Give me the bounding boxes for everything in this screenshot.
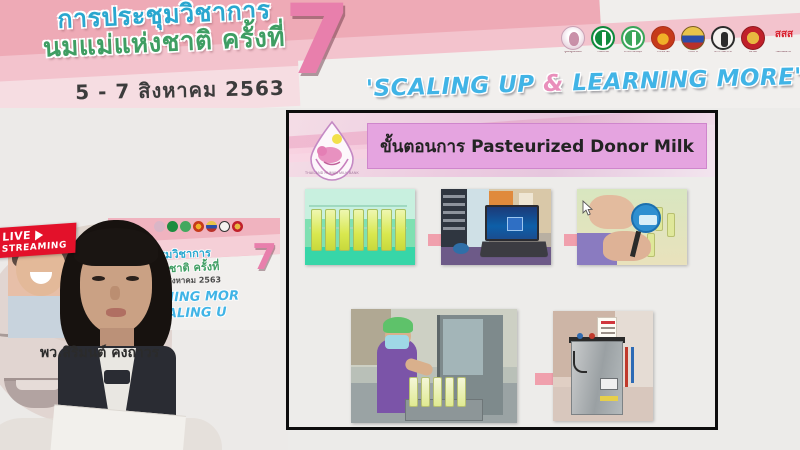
poster-logo-6-icon (232, 221, 243, 232)
sponsor-logo-4: กระทรวง (680, 26, 706, 58)
pasteurizer-knob-red (589, 333, 595, 339)
red-seal-logo-icon (741, 26, 765, 50)
pasteurizer-hose-red (625, 347, 628, 387)
speaker-eye-right (126, 276, 139, 281)
p5-wall-sign (597, 317, 617, 339)
poster-logo-5-icon (219, 221, 230, 232)
p2-stripe (443, 211, 465, 214)
sponsor-logo-1: กรมอนามัย (590, 26, 616, 58)
p3-hand-upper (589, 195, 635, 229)
sponsor-logo-1-caption: กรมอนามัย (590, 51, 616, 58)
p4-bottle (433, 377, 442, 407)
ministry-emblem-logo-icon (681, 26, 705, 50)
ministry-health-green-logo-icon (591, 26, 615, 50)
sponsor-logo-4-caption: กระทรวง (680, 51, 706, 58)
p2-stripe (443, 219, 465, 222)
sponsor-logo-2: สำนักงานกองทุน (620, 26, 646, 58)
speaker-eye-left (92, 276, 105, 281)
p1-bottle (311, 209, 322, 251)
presentation-slide-panel: THAILAND HUMAN MILK BANK ขั้นตอนการ Past… (286, 110, 718, 430)
p2-mouse-device (453, 243, 469, 254)
slide-screenshot: การประชุมวิชาการ นมแม่แห่งชาติ ครั้งที่ … (0, 0, 800, 450)
process-row-1 (305, 189, 687, 265)
p1-bottle (325, 209, 336, 251)
p5-sign-line2 (601, 327, 615, 329)
poster-logo-3-icon (193, 221, 204, 232)
sponsor-logo-0: มูลนิธิศูนย์นมแม่ (560, 26, 586, 58)
crown-emblem-logo-icon (711, 26, 735, 50)
sponsor-logo-6: สมาคม (740, 26, 766, 58)
p4-bottle (409, 377, 418, 407)
photo-nurse-laminar-hood (351, 309, 517, 423)
p2-background-left (441, 189, 467, 249)
pasteurizer-cord (573, 351, 587, 373)
sponsor-logo-7-caption: THAI HEALTH (770, 51, 796, 58)
p1-bottle (395, 209, 406, 251)
p3-bottle (667, 213, 675, 237)
speaker-nose (110, 286, 120, 300)
conference-header-banner: การประชุมวิชาการ นมแม่แห่งชาติ ครั้งที่ … (0, 0, 800, 108)
hood-glass-panel (443, 319, 483, 375)
p5-sign-title (601, 321, 615, 324)
royal-patronage-logo-icon (561, 26, 585, 50)
p2-stripe (443, 203, 465, 206)
sponsor-logo-7: THAI HEALTH (770, 26, 796, 58)
thermometer-display (639, 215, 657, 225)
p2-stripe (443, 195, 465, 198)
sponsor-logo-row: มูลนิธิศูนย์นมแม่ กรมอนามัย สำนักงานกองท… (560, 26, 796, 58)
p1-bottle (339, 209, 350, 251)
sponsor-logo-3: ราชวิทยาลัย (650, 26, 676, 58)
nurse-surgical-cap (383, 317, 413, 333)
slide-heading-text: ขั้นตอนการ Pasteurized Donor Milk (380, 133, 694, 160)
speaker-bangs (74, 228, 158, 266)
p4-bottle (445, 377, 454, 407)
poster-logo-2-icon (180, 221, 191, 232)
live-label: LIVE (2, 229, 31, 244)
royal-college-logo-icon (651, 26, 675, 50)
conference-title: การประชุมวิชาการ นมแม่แห่งชาติ ครั้งที่ (24, 2, 304, 56)
p4-bottle (457, 377, 466, 407)
sponsor-logo-3-caption: ราชวิทยาลัย (650, 51, 676, 58)
sponsor-logo-2-caption: สำนักงานกองทุน (620, 51, 646, 58)
health-promotion-green-logo-icon (621, 26, 645, 50)
laptop-screen (485, 205, 539, 241)
p1-bottle (381, 209, 392, 251)
speaker-mouth (106, 308, 126, 317)
laptop-window (507, 217, 523, 231)
photo-pasteurizer-machine (553, 311, 653, 421)
play-triangle-icon (35, 229, 43, 240)
poster-edition-number: 7 (252, 240, 277, 276)
p4-bottle (421, 377, 430, 407)
photo-laptop-workstation (441, 189, 551, 265)
slogan-prefix: 'SCALING UP (366, 71, 544, 102)
conference-date: 5 - 7 สิงหาคม 2563 (70, 72, 291, 108)
pasteurizer-control-panel (600, 378, 618, 390)
p1-bottle (367, 209, 378, 251)
thaihealth-logo-icon (771, 26, 795, 50)
p2-stripe (443, 227, 465, 230)
human-milk-bank-drop-logo: THAILAND HUMAN MILK BANK (302, 119, 362, 183)
nurse-face-mask (385, 335, 409, 349)
laptop-keyboard (480, 241, 549, 257)
p1-shelf-top (309, 205, 407, 207)
photo-thermometer-check (577, 189, 687, 265)
poster-logo-7-icon (245, 221, 256, 232)
sponsor-logo-0-caption: มูลนิธิศูนย์นมแม่ (560, 51, 586, 58)
sponsor-logo-5-caption: สภาการพยาบาล (710, 51, 736, 58)
sponsor-logo-5: สภาการพยาบาล (710, 26, 736, 58)
milk-bank-logo-caption: THAILAND HUMAN MILK BANK (304, 171, 360, 175)
slogan-ampersand: & (543, 71, 564, 98)
p3-hand-lower (603, 231, 651, 261)
speaker-video-region: การประชุมวิชาการ นมแม่แห่งชาติ ครั้งที่ … (0, 108, 288, 450)
process-row-2 (351, 309, 653, 423)
p5-sign-line3 (601, 332, 615, 334)
p1-bottle (353, 209, 364, 251)
sponsor-logo-6-caption: สมาคม (740, 51, 766, 58)
conference-edition-number: 7 (284, 0, 351, 88)
photo-milk-bottle-racks (305, 189, 415, 265)
pasteurizer-yellow-label (600, 396, 618, 401)
speaker-name-caption: พว.สิริมนต์ คงถาวร (40, 342, 159, 364)
digital-thermometer-icon (631, 203, 661, 233)
slide-heading-chip: ขั้นตอนการ Pasteurized Donor Milk (367, 123, 707, 169)
pasteurizer-hose-blue (631, 347, 634, 383)
pasteurizer-knob-blue (577, 333, 583, 339)
speaker-neck-bow (104, 370, 130, 384)
poster-logo-4-icon (206, 221, 217, 232)
p1-bottle-rack (309, 203, 407, 251)
